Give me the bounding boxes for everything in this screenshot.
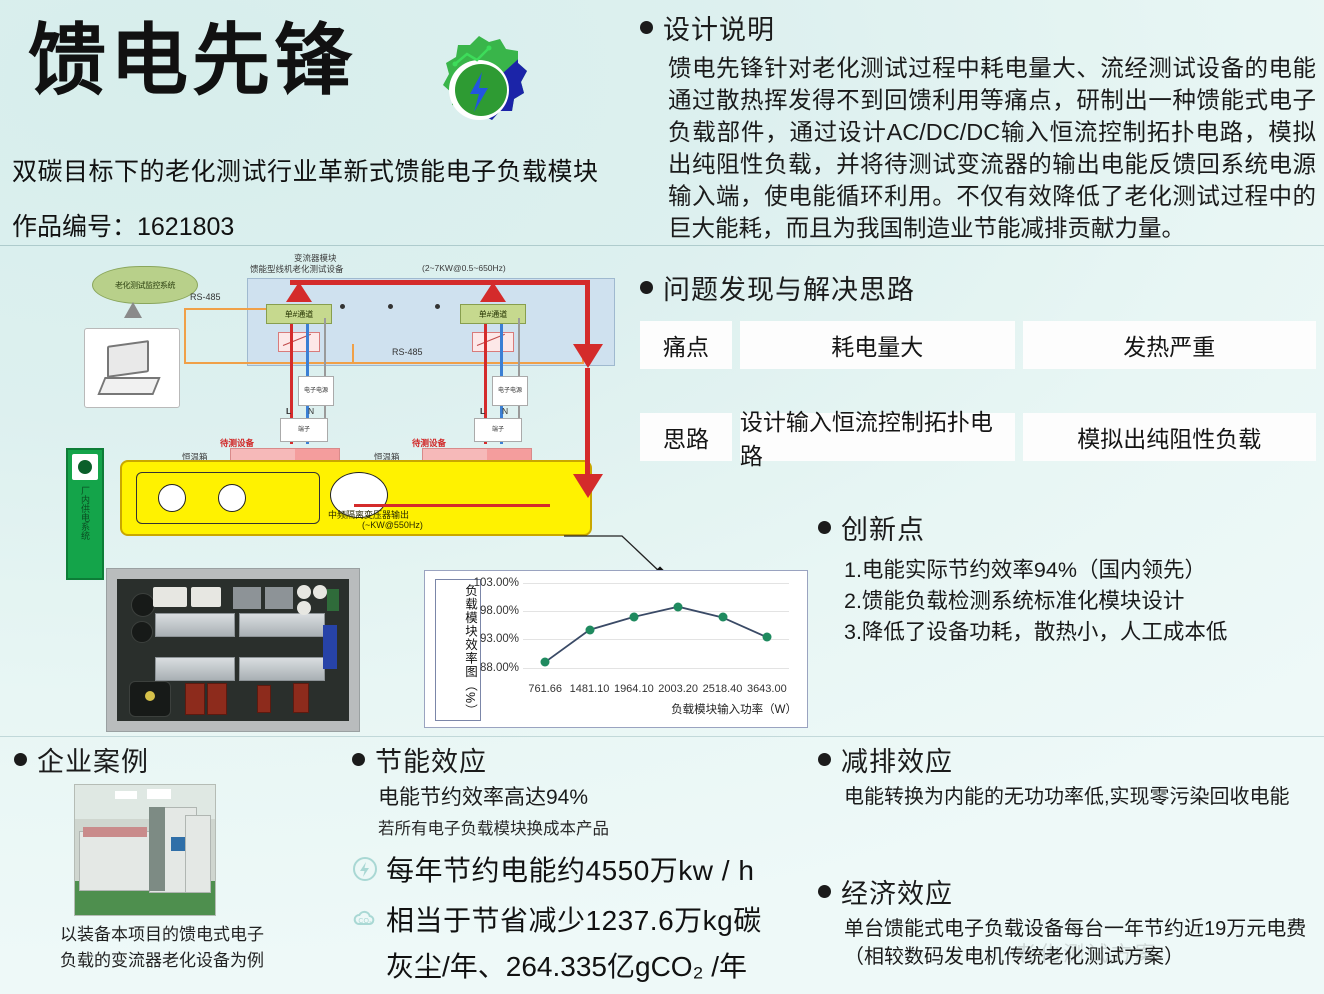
ceiling-light [147,789,171,799]
cap-round [313,585,327,599]
meter-box-2: 电子电源 [492,376,528,406]
row-label-idea: 思路 [640,413,732,461]
design-body-text: 馈电先锋针对老化测试过程中耗电量大、流经测试设备的电能通过散热挥发得不到回馈利用… [668,53,1316,245]
cell-idea-1: 设计输入恒流控制拓扑电路 [740,413,1015,461]
co2-cloud-icon: CO₂ [352,906,378,932]
feedback-down-arrow-2-icon [573,474,603,498]
bullet-dot-icon [352,753,365,766]
cloud-uplink-arrow-icon [124,302,142,318]
svg-text:CO₂: CO₂ [358,918,372,925]
lightning-circle-icon [352,856,378,882]
innovation-heading-row: 创新点 [818,508,1318,547]
case-heading: 企业案例 [37,740,149,779]
chart-ylabel: 负载模块效率图（%） [436,584,480,712]
cell-pain-2: 发热严重 [1023,321,1316,369]
factory-power-label: 厂内供电系统 [78,486,92,540]
cap-round [297,585,311,599]
energy-stat-1: 每年节约电能约4550万kw / h [386,849,754,889]
rs485-line [352,344,354,364]
heatsink [155,613,235,637]
chart-xlabel: 负载模块输入功率（W） [425,701,797,717]
rs485-line [184,362,584,364]
case-heading-row: 企业案例 [14,740,354,779]
terminal-box-1: 端子 [280,418,328,442]
chart-xtick: 2003.20 [658,683,698,695]
chart-ytick: 98.00% [480,605,519,617]
bullet-dot-icon [818,753,831,766]
efficiency-chart: 负载模块效率图（%） 103.00%98.00%93.00%88.00%761.… [424,570,808,728]
phase-l-label-2: L [480,406,485,416]
cap-marking [145,691,155,701]
rectifier-symbol [158,484,186,512]
chart-ytick: 93.00% [480,633,519,645]
innovation-section: 创新点 1.电能实际节约效率94%（国内领先） 2.馈能负载检测系统标准化模块设… [818,508,1318,648]
energy-stat-row-1: 每年节约电能约4550万kw / h [352,849,822,889]
meter-label: 电子电源 [498,388,522,395]
chart-xtick: 2518.40 [703,683,743,695]
isolation-transformer-panel: 中频隔离变压器输出 (~KW@550Hz) [120,460,592,536]
chart-xtick: 3643.00 [747,683,787,695]
chart-ytick: 103.00% [474,577,519,589]
chart-xtick: 1964.10 [614,683,654,695]
dut-label-2: 待测设备 [412,438,446,448]
reduction-heading: 减排效应 [841,740,953,779]
terminal-label: 端子 [492,427,504,434]
heatsink [239,613,325,637]
diagram-caption-equipment: 馈能型线机老化测试设备 [250,263,344,275]
chart-xtick: 761.66 [528,683,562,695]
ceiling-light [115,791,137,799]
transformer-red [207,683,227,715]
economy-heading-row: 经济效应 [818,872,1318,911]
page-subtitle: 双碳目标下的老化测试行业革新式馈能电子负载模块 [12,152,599,188]
reduction-body: 电能转换为内能的无功功率低,实现零污染回收电能 [844,783,1318,811]
monitoring-pc-icon [84,328,180,408]
chart-data-point [674,602,683,611]
cell-idea-2: 模拟出纯阻性负载 [1023,413,1316,461]
page-title: 馈电先锋 [28,22,356,100]
rs485-label-mid: RS-485 [392,347,423,357]
phase-n-label-2: N [502,406,508,416]
cap-round [297,601,311,615]
header-divider [0,245,1324,246]
header-left: 馈电先锋 双碳目标下的老化测试行业革新式馈能电子负载模块 作品编号：162180… [0,0,640,246]
green-component [327,589,339,611]
energy-stat-row-2: CO₂ 相当于节省减少1237.6万kg碳 [352,899,822,939]
energy-heading-row: 节能效应 [352,740,822,779]
terminal-label: 端子 [298,427,310,434]
design-description-section: 设计说明 馈电先锋针对老化测试过程中耗电量大、流经测试设备的电能通过散热挥发得不… [640,8,1316,245]
relay-2-shape [472,332,514,352]
system-architecture-diagram: 老化测试监控系统 变流器模块 馈能型线机老化测试设备 (2~7KW@0.5~65… [62,252,622,582]
inverter-symbol [218,484,246,512]
phase-n-label-1: N [308,406,314,416]
gear-lightning-logo [413,28,545,148]
case-caption-line1: 以装备本项目的馈电式电子 [60,922,264,948]
problem-solution-section: 问题发现与解决思路 痛点 耗电量大 发热严重 思路 设计输入恒流控制拓扑电路 模… [640,268,1316,461]
transformer-red [185,683,205,715]
feedback-bus-top [290,280,590,285]
diagram-caption-spec: (2~7KW@0.5~650Hz) [422,263,506,273]
chart-ytick: 88.00% [480,662,519,674]
blue-component [323,625,337,669]
chart-plot-area: 103.00%98.00%93.00%88.00%761.661481.1019… [523,583,789,679]
pc-screen-shape [107,340,149,378]
problem-heading: 问题发现与解决思路 [663,268,915,307]
list-item: 1.电能实际节约效率94%（国内领先） [844,555,1318,586]
module-white [153,587,187,607]
monitoring-cloud-label: 老化测试监控系统 [93,267,197,303]
toroid-coil [131,621,153,643]
bullet-dot-icon [818,885,831,898]
channel-box-2: 单#通道 [460,304,526,324]
bottom-divider [0,736,1324,737]
feedback-bus-right-low [585,368,590,476]
rs485-label-left: RS-485 [190,292,221,302]
row-label-paincount: 痛点 [640,321,732,369]
poster-root: 馈电先锋 双碳目标下的老化测试行业革新式馈能电子负载模块 作品编号：162180… [0,0,1324,994]
work-number: 作品编号：1621803 [12,207,234,243]
cell-pain-1: 耗电量大 [740,321,1015,369]
innovation-heading: 创新点 [841,508,925,547]
case-caption-line2: 负载的变流器老化设备为例 [60,948,264,974]
cabinet-door [149,807,165,891]
module-gray [265,587,293,609]
energy-sub-2: 若所有电子负载模块换成本产品 [378,815,822,839]
cabinet-top-items [83,827,147,837]
list-item: 3.降低了设备功耗，散热小，人工成本低 [844,617,1318,648]
bullet-dot-icon [640,281,653,294]
energy-feedback-arrow-2-icon [480,282,506,302]
innovation-list: 1.电能实际节约效率94%（国内领先） 2.馈能负载检测系统标准化模块设计 3.… [844,555,1318,648]
watermark-text: 老化测试方案 [1015,938,1159,968]
monitoring-cloud-shape: 老化测试监控系统 [92,266,198,304]
meter-box-1: 电子电源 [298,376,334,406]
factory-power-panel: 厂内供电系统 [66,448,104,580]
product-internals-photo [106,568,360,732]
chart-data-point [541,658,550,667]
table-row: 痛点 耗电量大 发热严重 [640,321,1316,369]
ellipsis-dots-icon [340,304,440,309]
energy-saving-section: 节能效应 电能节约效率高达94% 若所有电子负载模块换成本产品 每年节约电能约4… [352,740,822,985]
reduction-heading-row: 减排效应 [818,740,1318,779]
bullet-dot-icon [14,753,27,766]
problem-matrix: 痛点 耗电量大 发热严重 思路 设计输入恒流控制拓扑电路 模拟出纯阻性负载 [640,321,1316,461]
case-caption: 以装备本项目的馈电式电子 负载的变流器老化设备为例 [60,922,264,975]
energy-feedback-arrow-1-icon [286,282,312,302]
chart-data-point [585,625,594,634]
transformer-red [257,685,271,713]
energy-stat-2: 相当于节省减少1237.6万kg碳 [386,899,762,939]
transformer-label-2: (~KW@550Hz) [362,520,423,530]
economy-heading: 经济效应 [841,872,953,911]
output-bus-line [354,504,550,507]
chart-data-point [718,613,727,622]
terminal-box-2: 端子 [474,418,522,442]
cabinet-left [79,831,153,891]
toroid-coil [131,593,155,617]
transformer-red [293,683,309,713]
heatsink [239,657,325,681]
bullet-dot-icon [640,21,653,34]
rs485-line [184,308,270,310]
meter-label: 电子电源 [304,388,328,395]
chart-series-line [523,583,789,679]
design-heading: 设计说明 [663,8,775,47]
channel-box-1: 单#通道 [266,304,332,324]
energy-sub-1: 电能节约效率高达94% [378,781,822,811]
bullet-dot-icon [818,521,831,534]
chart-ylabel-frame: 负载模块效率图（%） [435,579,481,721]
energy-stat-3: 灰尘/年、264.335亿gCO₂ /年 [386,945,822,985]
chart-xtick: 1481.10 [570,683,610,695]
factory-badge-icon [72,454,98,480]
relay-1-shape [278,332,320,352]
module-white [191,587,221,607]
feedback-down-arrow-icon [573,344,603,368]
pc-keyboard-shape [97,377,160,395]
chart-data-point [762,633,771,642]
case-equipment-photo [74,784,216,916]
problem-heading-row: 问题发现与解决思路 [640,268,1316,307]
module-gray [233,587,261,609]
phase-l-label-1: L [286,406,291,416]
feedback-bus-right [585,280,590,346]
list-item: 2.馈能负载检测系统标准化模块设计 [844,586,1318,617]
table-row: 思路 设计输入恒流控制拓扑电路 模拟出纯阻性负载 [640,413,1316,461]
enterprise-case-section: 企业案例 以装备本项目的馈电式电子 负载的变流器老化设备为例 [14,740,354,779]
cabinet-far-right [185,815,211,893]
energy-heading: 节能效应 [375,740,487,779]
design-heading-row: 设计说明 [640,8,1316,47]
chart-data-point [629,612,638,621]
rs485-line [184,308,186,364]
dut-label-1: 待测设备 [220,438,254,448]
emission-reduction-section: 减排效应 电能转换为内能的无功功率低,实现零污染回收电能 [818,740,1318,811]
heatsink [155,657,235,681]
